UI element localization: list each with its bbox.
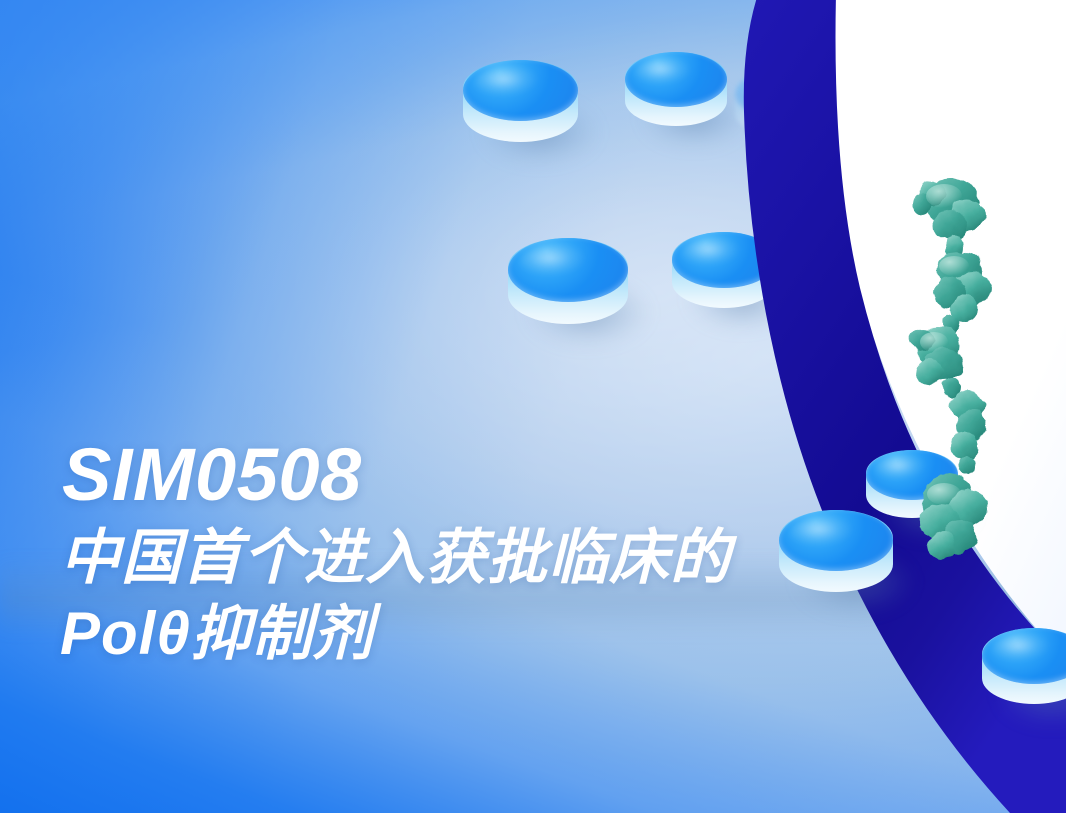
page-title: SIM0508: [62, 434, 898, 516]
pill-8: [982, 628, 1066, 704]
pill-8-body: [982, 628, 1066, 704]
protein-structure: [880, 160, 1066, 570]
poster-canvas: SIM0508 中国首个进入获批临床的 Polθ抑制剂: [0, 0, 1066, 813]
poster-copy: SIM0508 中国首个进入获批临床的 Polθ抑制剂: [58, 434, 898, 672]
page-subtitle: 中国首个进入获批临床的 Polθ抑制剂: [60, 520, 898, 672]
subtitle-line-2: Polθ抑制剂: [60, 596, 898, 672]
subtitle-line-1: 中国首个进入获批临床的: [60, 524, 731, 591]
pill-8-gloss: [992, 634, 1056, 666]
